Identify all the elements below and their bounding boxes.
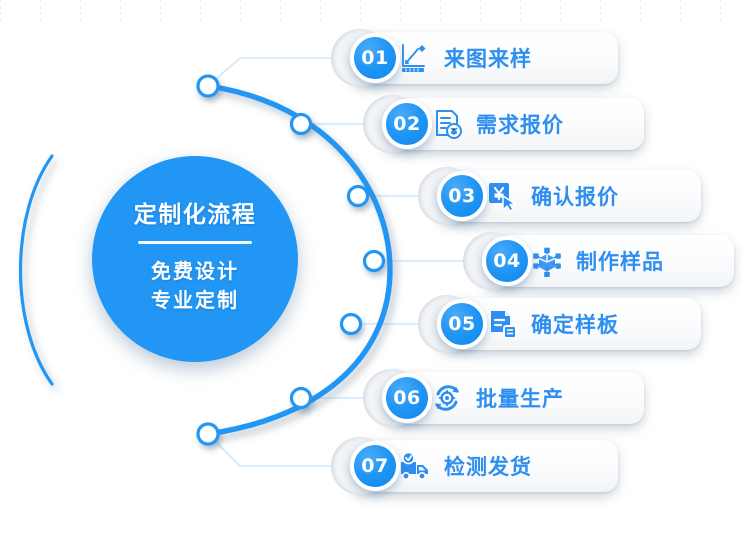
arc-node-01 — [198, 76, 218, 96]
step-06-badge: 06 — [382, 373, 432, 423]
step-07-pill[interactable]: 07 检测发货 — [350, 440, 618, 492]
document-yen-quote-icon — [430, 107, 464, 141]
step-03[interactable]: 03 确认报价 — [437, 170, 701, 222]
arc-node-07 — [198, 424, 218, 444]
arc-node-06 — [292, 389, 311, 408]
step-02[interactable]: 02 需求报价 — [382, 98, 644, 150]
step-05-label: 确定样板 — [531, 309, 619, 339]
step-04-badge: 04 — [482, 236, 532, 286]
step-02-label: 需求报价 — [476, 109, 564, 139]
step-06-pill[interactable]: 06 批量生产 — [382, 372, 644, 424]
arc-node-04 — [365, 252, 384, 271]
hub-title: 定制化流程 — [134, 204, 257, 227]
refresh-gear-production-icon — [430, 381, 464, 415]
step-06[interactable]: 06 批量生产 — [382, 372, 644, 424]
step-07[interactable]: 07 检测发货 — [350, 440, 618, 492]
step-07-badge: 07 — [350, 441, 400, 491]
arc-node-02 — [292, 115, 311, 134]
step-01-badge: 01 — [350, 33, 400, 83]
step-01[interactable]: 01 来图来样 — [350, 32, 618, 84]
step-04[interactable]: 04 — [482, 235, 734, 287]
decorative-left-arc — [21, 156, 53, 384]
step-05-badge: 05 — [437, 299, 487, 349]
step-04-label: 制作样品 — [576, 246, 664, 276]
step-05-pill[interactable]: 05 确定样板 — [437, 298, 701, 350]
step-04-pill[interactable]: 04 — [482, 235, 734, 287]
truck-check-delivery-icon — [398, 449, 432, 483]
step-05[interactable]: 05 确定样板 — [437, 298, 701, 350]
hub-subtitle: 免费设计 专业定制 — [151, 257, 239, 314]
document-template-icon — [485, 307, 519, 341]
process-flow-diagram: 定制化流程 免费设计 专业定制 01 — [0, 0, 750, 540]
yen-cursor-confirm-icon — [485, 179, 519, 213]
step-02-pill[interactable]: 02 需求报价 — [382, 98, 644, 150]
hub-subtitle-line-2: 专业定制 — [151, 286, 239, 314]
hub-divider — [138, 241, 252, 244]
step-03-pill[interactable]: 03 确认报价 — [437, 170, 701, 222]
center-hub: 定制化流程 免费设计 专业定制 — [92, 156, 298, 362]
cube-nodes-prototype-icon — [530, 244, 564, 278]
pencil-ruler-drawing-icon — [398, 41, 432, 75]
arc-node-05 — [342, 315, 361, 334]
step-01-pill[interactable]: 01 来图来样 — [350, 32, 618, 84]
step-03-label: 确认报价 — [531, 181, 619, 211]
step-06-label: 批量生产 — [476, 383, 564, 413]
hub-subtitle-line-1: 免费设计 — [151, 257, 239, 285]
step-03-badge: 03 — [437, 171, 487, 221]
step-01-label: 来图来样 — [444, 43, 532, 73]
step-02-badge: 02 — [382, 99, 432, 149]
step-07-label: 检测发货 — [444, 451, 532, 481]
arc-node-03 — [349, 187, 368, 206]
